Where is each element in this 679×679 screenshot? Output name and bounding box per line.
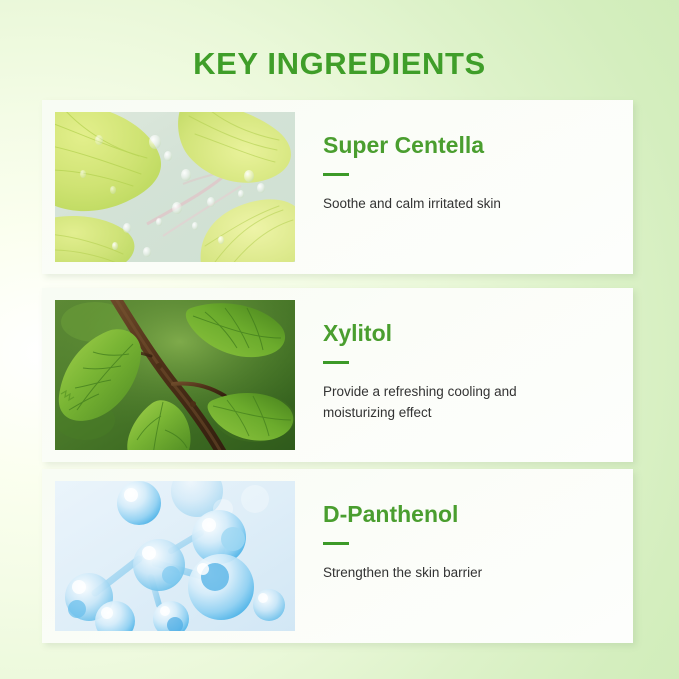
ingredient-image-super-centella — [55, 112, 295, 262]
ingredient-description: Soothe and calm irritated skin — [323, 193, 588, 214]
accent-dash-icon — [323, 361, 349, 364]
ingredient-card-d-panthenol: D-Panthenol Strengthen the skin barrier — [42, 469, 633, 643]
ingredient-title: Xylitol — [323, 318, 392, 348]
key-ingredients-infographic: KEY INGREDIENTS — [0, 0, 679, 679]
ingredient-description: Strengthen the skin barrier — [323, 562, 588, 583]
ingredient-description: Provide a refreshing cooling and moistur… — [323, 381, 588, 423]
ingredient-title: D-Panthenol — [323, 499, 458, 529]
ingredient-image-d-panthenol — [55, 481, 295, 631]
ingredient-body-super-centella: Super Centella Soothe and calm irritated… — [323, 100, 621, 274]
ingredient-title: Super Centella — [323, 130, 484, 160]
ingredient-card-xylitol: Xylitol Provide a refreshing cooling and… — [42, 288, 633, 462]
ingredient-body-d-panthenol: D-Panthenol Strengthen the skin barrier — [323, 469, 621, 643]
ingredient-image-xylitol — [55, 300, 295, 450]
accent-dash-icon — [323, 173, 349, 176]
accent-dash-icon — [323, 542, 349, 545]
page-title: KEY INGREDIENTS — [0, 44, 679, 84]
ingredient-body-xylitol: Xylitol Provide a refreshing cooling and… — [323, 288, 621, 462]
ingredient-card-super-centella: Super Centella Soothe and calm irritated… — [42, 100, 633, 274]
